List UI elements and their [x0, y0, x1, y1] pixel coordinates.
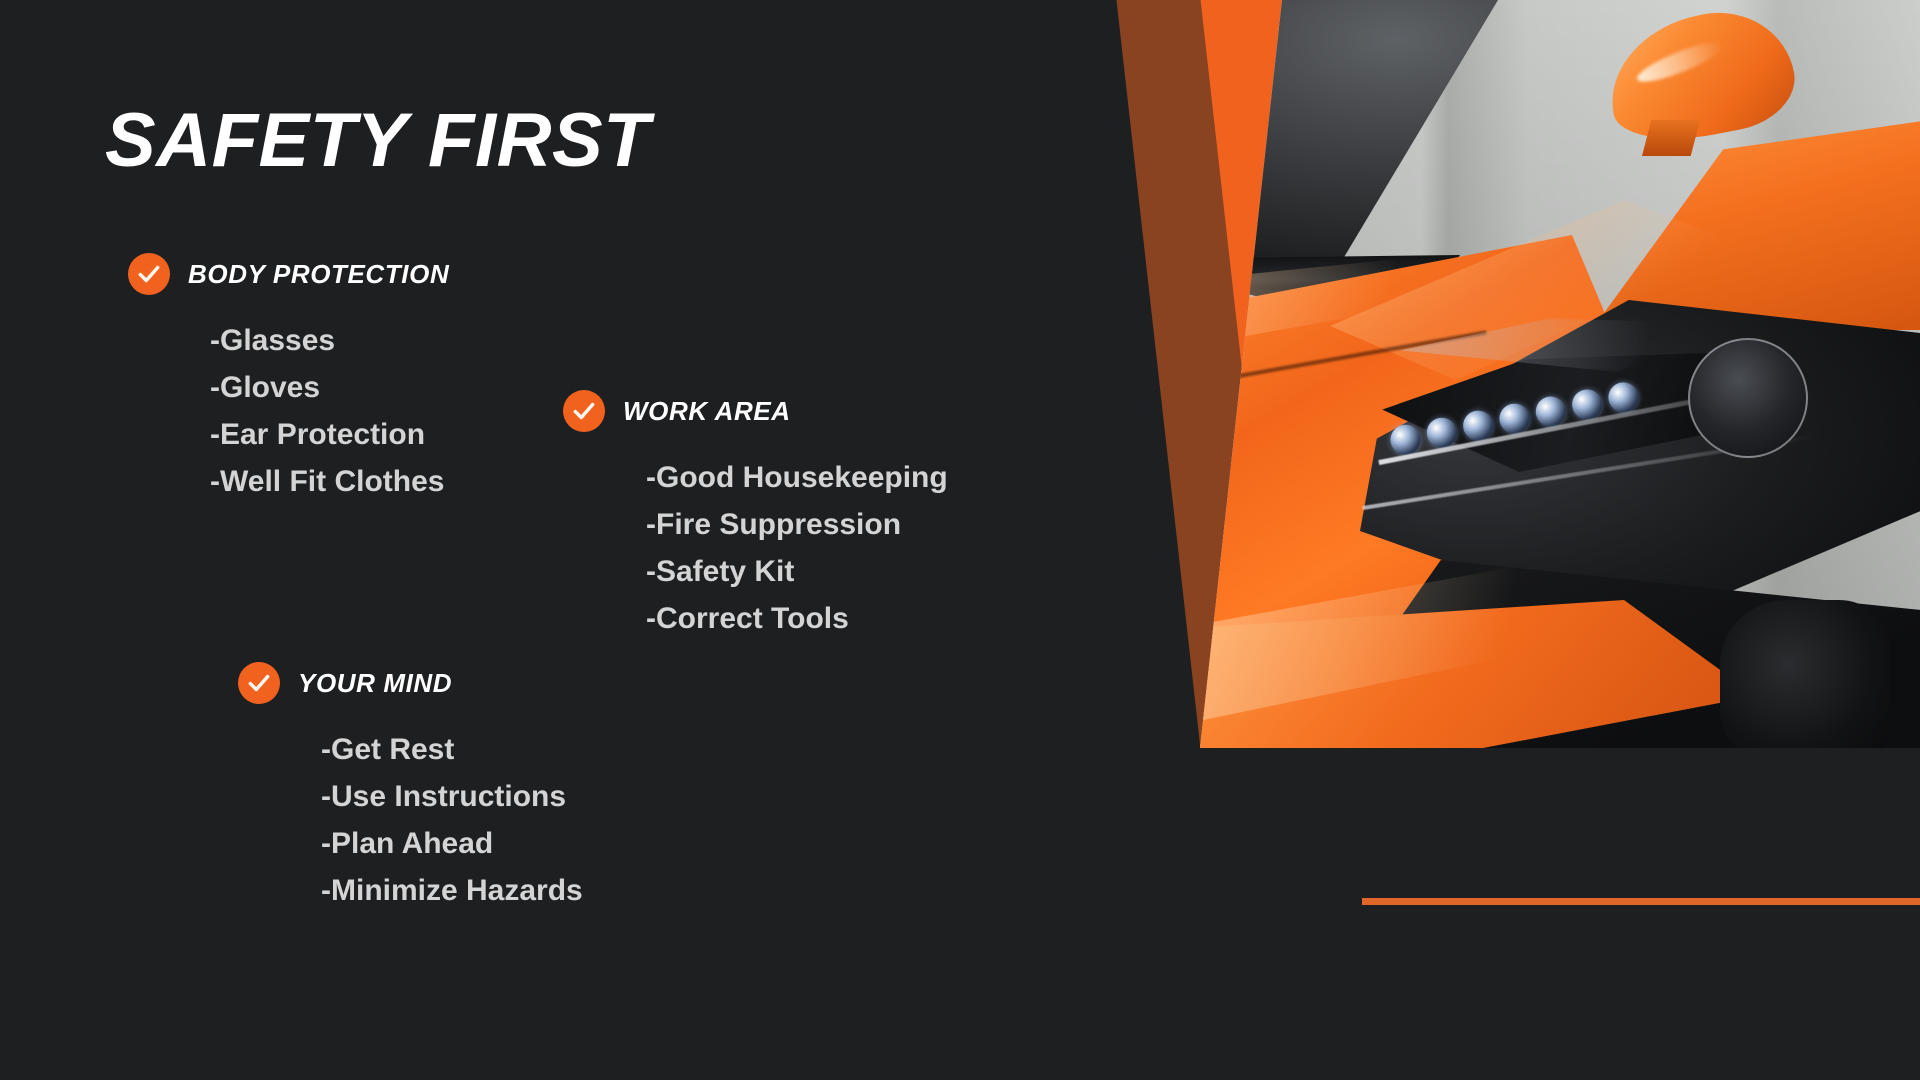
section-header: WORK AREA — [563, 390, 948, 432]
bottom-rule — [1362, 898, 1920, 905]
list-item: -Minimize Hazards — [321, 867, 583, 914]
page-title: SAFETY FIRST — [105, 103, 650, 179]
media-panel — [1030, 0, 1920, 748]
list-item: -Safety Kit — [646, 548, 948, 595]
section-title: BODY PROTECTION — [188, 259, 449, 290]
section-title: WORK AREA — [623, 396, 791, 427]
list-item: -Gloves — [210, 364, 449, 411]
check-circle-icon — [128, 253, 170, 295]
list-item: -Correct Tools — [646, 595, 948, 642]
list-item: -Use Instructions — [321, 773, 583, 820]
slide: SAFETY FIRST BODY PROTECTION -Glasses -G… — [0, 0, 1920, 1080]
content-column: SAFETY FIRST BODY PROTECTION -Glasses -G… — [0, 0, 1100, 1080]
list-item: -Fire Suppression — [646, 501, 948, 548]
section-header: YOUR MIND — [238, 662, 583, 704]
section-work-area: WORK AREA -Good Housekeeping -Fire Suppr… — [563, 390, 948, 642]
section-title: YOUR MIND — [298, 668, 452, 699]
section-header: BODY PROTECTION — [128, 253, 449, 295]
check-circle-icon — [238, 662, 280, 704]
list-item: -Plan Ahead — [321, 820, 583, 867]
list-item: -Glasses — [210, 317, 449, 364]
list-item: -Get Rest — [321, 726, 583, 773]
list-item: -Good Housekeeping — [646, 454, 948, 501]
car-wheel-shadow — [1720, 600, 1890, 748]
car-projector-lens — [1688, 338, 1808, 458]
bullet-list: -Glasses -Gloves -Ear Protection -Well F… — [210, 317, 449, 505]
list-item: -Well Fit Clothes — [210, 458, 449, 505]
bullet-list: -Good Housekeeping -Fire Suppression -Sa… — [646, 454, 948, 642]
section-body-protection: BODY PROTECTION -Glasses -Gloves -Ear Pr… — [128, 253, 449, 505]
check-circle-icon — [563, 390, 605, 432]
list-item: -Ear Protection — [210, 411, 449, 458]
car-mirror-stalk — [1642, 120, 1700, 156]
bullet-list: -Get Rest -Use Instructions -Plan Ahead … — [321, 726, 583, 914]
section-your-mind: YOUR MIND -Get Rest -Use Instructions -P… — [238, 662, 583, 914]
